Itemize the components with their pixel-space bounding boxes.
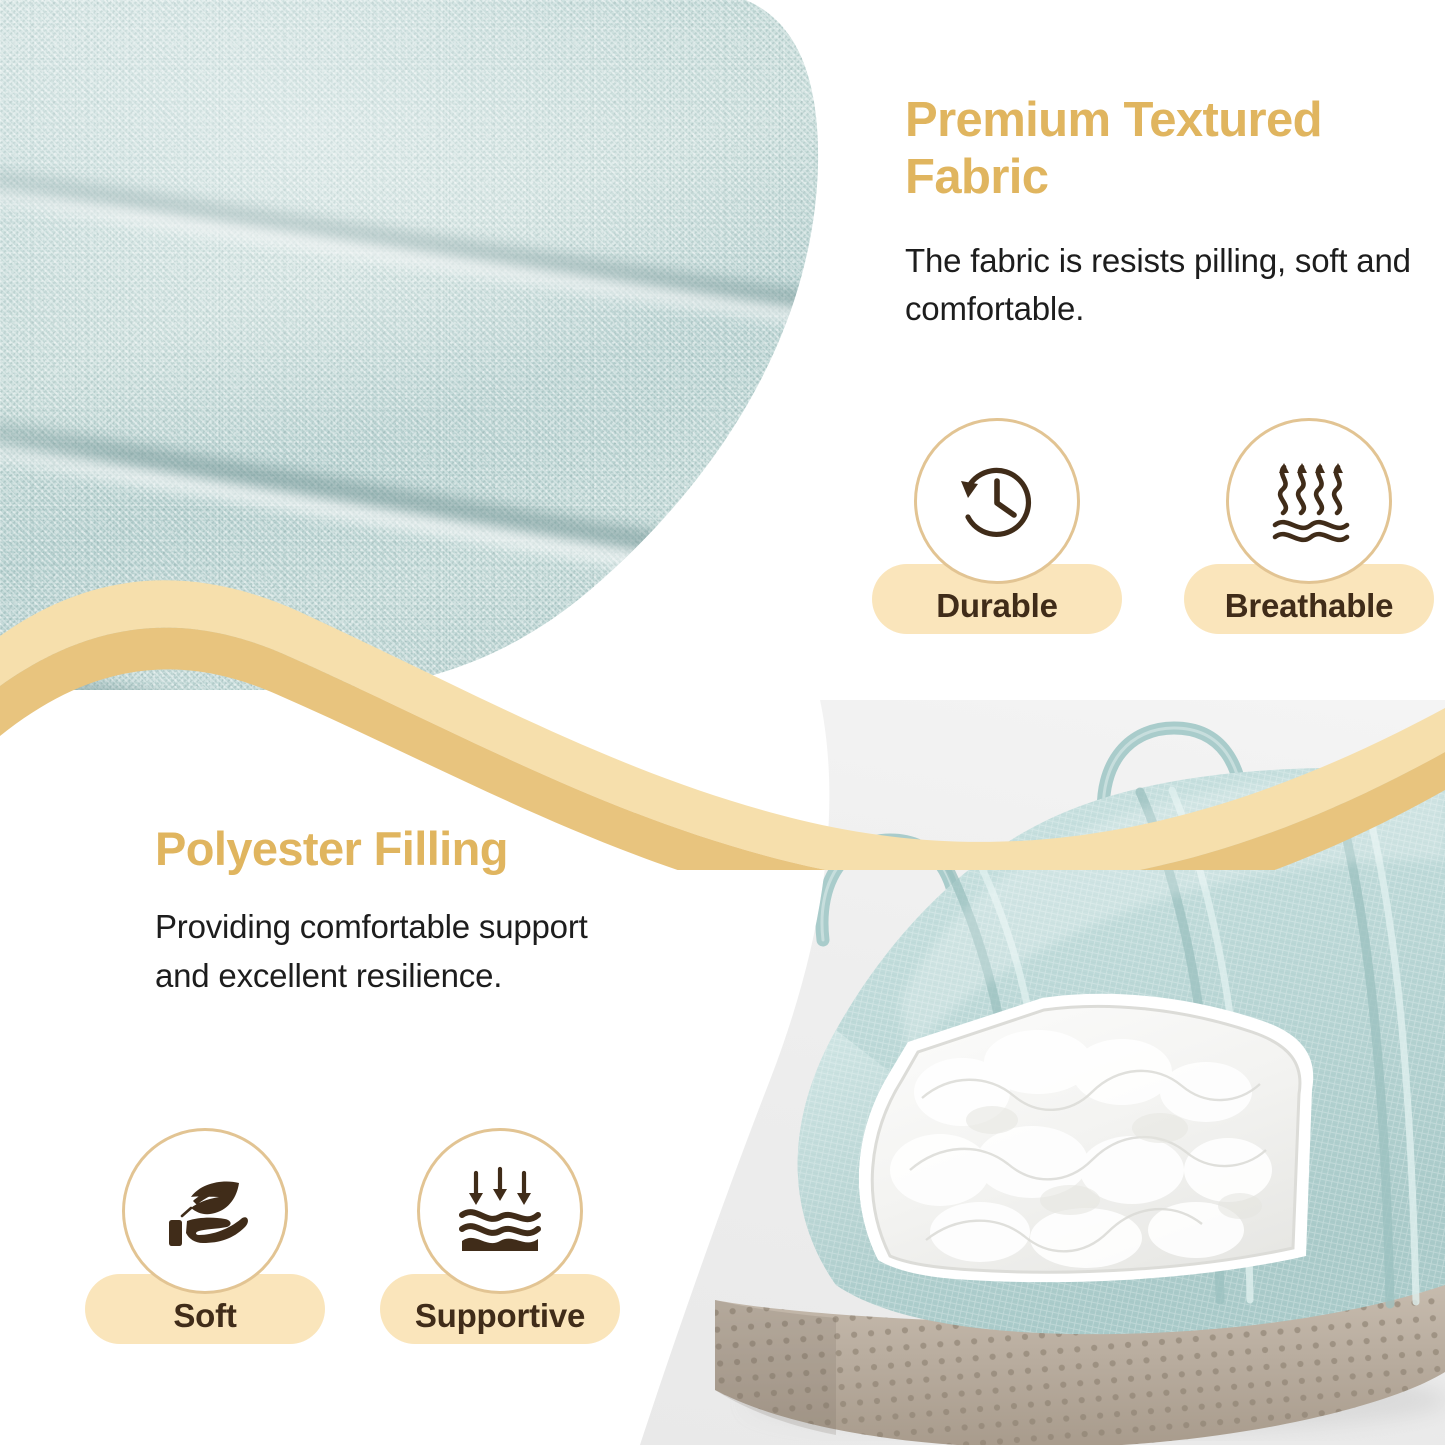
fabric-body-text: The fabric is resists pilling, soft and … — [905, 237, 1425, 335]
badge-durable[interactable]: Durable — [872, 418, 1122, 634]
fabric-text-block: Premium Textured Fabric The fabric is re… — [905, 92, 1425, 334]
clock-history-icon — [949, 453, 1045, 549]
cushion-image — [640, 700, 1445, 1445]
hand-leaf-icon — [157, 1163, 253, 1259]
badge-supportive-circle — [417, 1128, 583, 1294]
badge-breathable-circle — [1226, 418, 1392, 584]
pressure-waves-icon — [452, 1163, 548, 1259]
badge-soft[interactable]: Soft — [85, 1128, 325, 1344]
cushion-product-panel — [640, 700, 1445, 1445]
airflow-waves-icon — [1261, 453, 1357, 549]
fabric-heading: Premium Textured Fabric — [905, 92, 1425, 207]
fabric-badge-group: Durable — [872, 418, 1434, 634]
filling-text-block: Polyester Filling Providing comfortable … — [155, 822, 625, 1001]
infographic-canvas: Premium Textured Fabric The fabric is re… — [0, 0, 1445, 1445]
polyester-fill-clusters — [890, 1030, 1272, 1268]
badge-supportive[interactable]: Supportive — [380, 1128, 620, 1344]
badge-durable-circle — [914, 418, 1080, 584]
filling-body-text: Providing comfortable support and excell… — [155, 903, 625, 1001]
fabric-swatch-image — [0, 0, 850, 690]
cushion-illustration — [640, 700, 1445, 1445]
badge-breathable[interactable]: Breathable — [1184, 418, 1434, 634]
filling-badge-group: Soft — [85, 1128, 620, 1344]
badge-soft-circle — [122, 1128, 288, 1294]
filling-heading: Polyester Filling — [155, 822, 625, 877]
support-base-block — [462, 1238, 538, 1251]
fabric-sheen — [0, 0, 850, 690]
